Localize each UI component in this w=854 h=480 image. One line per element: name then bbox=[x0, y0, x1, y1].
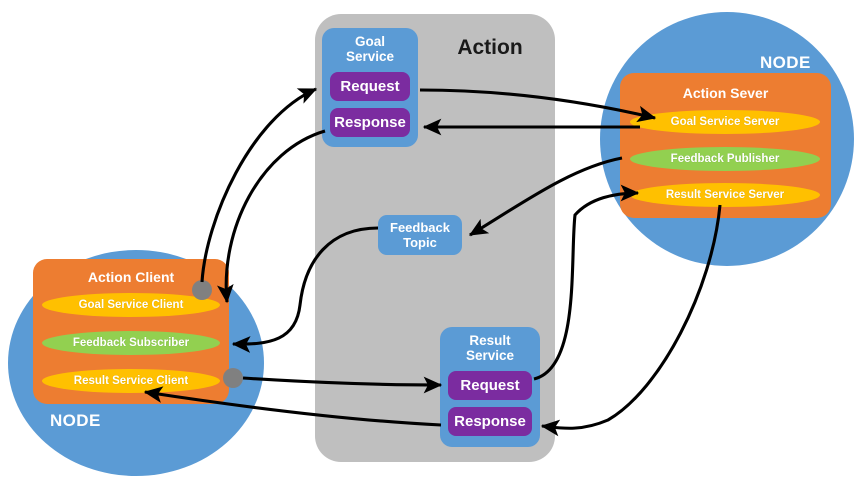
goal-service-client-label: Goal Service Client bbox=[79, 299, 184, 311]
server-node-label: NODE bbox=[760, 53, 811, 73]
action-server-title: Action Sever bbox=[620, 85, 831, 101]
goal-service-response[interactable]: Response bbox=[330, 108, 410, 137]
result-service-title-line1: Result bbox=[469, 333, 510, 348]
result-service-server-label: Result Service Server bbox=[666, 189, 784, 201]
goal-service-request-label: Request bbox=[340, 78, 399, 95]
feedback-topic-title-line2: Topic bbox=[403, 235, 437, 250]
goal-service-title-line1: Goal bbox=[355, 34, 385, 49]
feedback-publisher-pill[interactable]: Feedback Publisher bbox=[630, 147, 820, 171]
result-service-server-pill[interactable]: Result Service Server bbox=[630, 183, 820, 207]
goal-service-request[interactable]: Request bbox=[330, 72, 410, 101]
goal-client-connector-dot bbox=[192, 280, 212, 300]
result-service-title-line2: Service bbox=[466, 348, 514, 363]
result-service-response[interactable]: Response bbox=[448, 407, 532, 436]
goal-service-client-pill[interactable]: Goal Service Client bbox=[42, 293, 220, 317]
result-service-title: Result Service bbox=[440, 333, 540, 363]
goal-service-server-pill[interactable]: Goal Service Server bbox=[630, 110, 820, 134]
feedback-publisher-label: Feedback Publisher bbox=[671, 153, 780, 165]
goal-service-box[interactable]: Goal Service Request Response bbox=[322, 28, 418, 147]
result-service-box[interactable]: Result Service Request Response bbox=[440, 327, 540, 447]
feedback-subscriber-label: Feedback Subscriber bbox=[73, 337, 189, 349]
arrow-goalresponse-to-goalclient bbox=[226, 131, 325, 302]
arrow-goalclient-to-goalrequest bbox=[202, 89, 316, 282]
feedback-subscriber-pill[interactable]: Feedback Subscriber bbox=[42, 331, 220, 355]
action-group-title: Action bbox=[425, 36, 555, 60]
feedback-topic-box[interactable]: Feedback Topic bbox=[378, 215, 462, 255]
diagram-canvas: NODE Action Sever Goal Service Server Fe… bbox=[0, 0, 854, 480]
result-service-response-label: Response bbox=[454, 413, 526, 430]
result-service-client-label: Result Service Client bbox=[74, 375, 188, 387]
result-service-client-pill[interactable]: Result Service Client bbox=[42, 369, 220, 393]
result-service-request-label: Request bbox=[460, 377, 519, 394]
goal-service-title-line2: Service bbox=[346, 49, 394, 64]
goal-service-title: Goal Service bbox=[322, 34, 418, 64]
action-server-box[interactable]: Action Sever Goal Service Server Feedbac… bbox=[620, 73, 831, 218]
result-service-request[interactable]: Request bbox=[448, 371, 532, 400]
goal-service-response-label: Response bbox=[334, 114, 406, 131]
feedback-topic-title-line1: Feedback bbox=[390, 220, 450, 235]
result-client-connector-dot bbox=[223, 368, 243, 388]
goal-service-server-label: Goal Service Server bbox=[671, 116, 780, 128]
client-node-label: NODE bbox=[50, 411, 101, 431]
